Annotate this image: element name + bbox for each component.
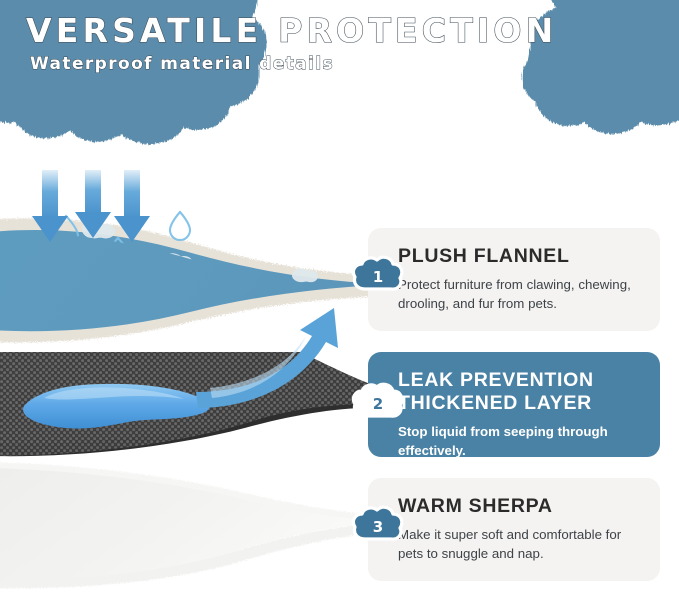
card-body-warm-sherpa: Make it super soft and comfortable for p… <box>398 526 640 564</box>
cloud-badge-shape-3 <box>351 505 405 547</box>
layer-warm-sherpa <box>0 462 392 588</box>
infographic-canvas: VERSATILE PROTECTION Waterproof material… <box>0 0 679 604</box>
card-title-plush-flannel: PLUSH FLANNEL <box>398 245 640 268</box>
feature-card-leak-prevention[interactable]: LEAK PREVENTION THICKENED LAYER Stop liq… <box>368 352 660 457</box>
feature-card-warm-sherpa[interactable]: WARM SHERPA Make it super soft and comfo… <box>368 478 660 581</box>
feature-cards: PLUSH FLANNEL Protect furniture from cla… <box>368 0 679 604</box>
card-title-warm-sherpa: WARM SHERPA <box>398 495 640 518</box>
material-layers-illustration <box>0 170 400 604</box>
step-badge-3[interactable]: 3 <box>351 505 405 547</box>
water-down-arrows <box>32 170 150 242</box>
step-badge-2[interactable]: 2 <box>351 382 405 424</box>
card-body-leak-prevention: Stop liquid from seeping through effecti… <box>398 423 640 461</box>
cloud-badge-shape-1 <box>351 255 405 297</box>
feature-card-plush-flannel[interactable]: PLUSH FLANNEL Protect furniture from cla… <box>368 228 660 331</box>
step-badge-1[interactable]: 1 <box>351 255 405 297</box>
cloud-badge-shape-2 <box>351 382 405 424</box>
card-body-plush-flannel: Protect furniture from clawing, chewing,… <box>398 276 640 314</box>
card-title-leak-prevention: LEAK PREVENTION THICKENED LAYER <box>398 369 640 415</box>
